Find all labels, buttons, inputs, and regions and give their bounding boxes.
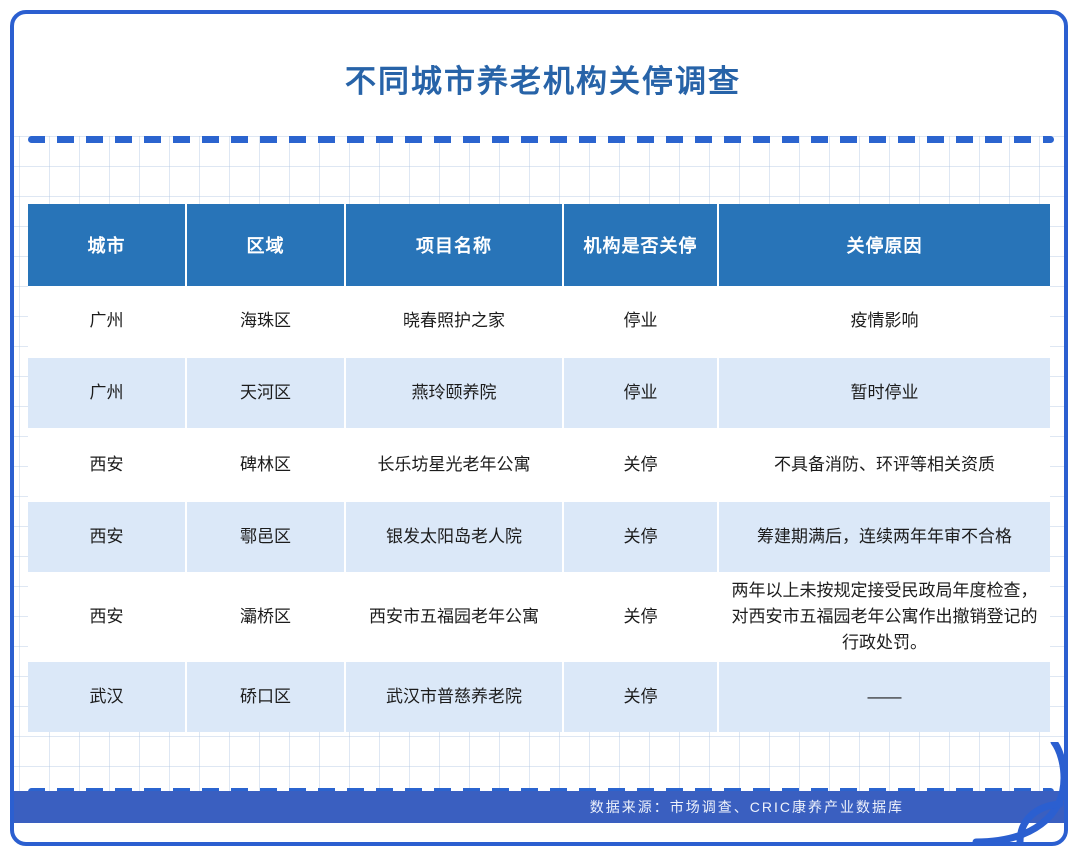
table-row: 广州 天河区 燕玲颐养院 停业 暂时停业 xyxy=(28,358,1050,428)
cell-project: 晓春照护之家 xyxy=(346,286,564,356)
column-header-district: 区域 xyxy=(187,204,346,286)
source-text: 数据来源：市场调查、CRIC康养产业数据库 xyxy=(590,797,1068,817)
cell-city: 西安 xyxy=(28,430,187,500)
cell-city: 西安 xyxy=(28,502,187,572)
cell-district: 海珠区 xyxy=(187,286,346,356)
table-row: 武汉 硚口区 武汉市普慈养老院 关停 —— xyxy=(28,662,1050,732)
cell-city: 广州 xyxy=(28,286,187,356)
cell-city: 武汉 xyxy=(28,662,187,732)
dashed-divider-top xyxy=(28,136,1054,143)
column-header-reason: 关停原因 xyxy=(719,204,1050,286)
cell-district: 鄠邑区 xyxy=(187,502,346,572)
column-header-city: 城市 xyxy=(28,204,187,286)
page-title: 不同城市养老机构关停调查 xyxy=(14,60,1068,104)
cell-city: 西安 xyxy=(28,574,187,660)
cell-reason: 两年以上未按规定接受民政局年度检查，对西安市五福园老年公寓作出撤销登记的行政处罚… xyxy=(719,574,1050,660)
table-row: 西安 灞桥区 西安市五福园老年公寓 关停 两年以上未按规定接受民政局年度检查，对… xyxy=(28,574,1050,660)
cell-status: 关停 xyxy=(564,662,719,732)
cell-district: 硚口区 xyxy=(187,662,346,732)
cell-reason: 疫情影响 xyxy=(719,286,1050,356)
cell-project: 西安市五福园老年公寓 xyxy=(346,574,564,660)
report-card: 不同城市养老机构关停调查 城市 区域 项目名称 机构是否关停 关停原因 广州 海… xyxy=(10,10,1068,846)
cell-district: 灞桥区 xyxy=(187,574,346,660)
table-row: 西安 鄠邑区 银发太阳岛老人院 关停 筹建期满后，连续两年年审不合格 xyxy=(28,502,1050,572)
cell-reason: —— xyxy=(719,662,1050,732)
cell-reason: 不具备消防、环评等相关资质 xyxy=(719,430,1050,500)
table-header-row: 城市 区域 项目名称 机构是否关停 关停原因 xyxy=(28,204,1050,286)
table-row: 西安 碑林区 长乐坊星光老年公寓 关停 不具备消防、环评等相关资质 xyxy=(28,430,1050,500)
cell-city: 广州 xyxy=(28,358,187,428)
table-header: 城市 区域 项目名称 机构是否关停 关停原因 xyxy=(28,204,1050,286)
cell-status: 停业 xyxy=(564,286,719,356)
closure-survey-table: 城市 区域 项目名称 机构是否关停 关停原因 广州 海珠区 晓春照护之家 停业 … xyxy=(28,204,1050,732)
cell-reason: 暂时停业 xyxy=(719,358,1050,428)
cell-status: 关停 xyxy=(564,430,719,500)
cell-district: 天河区 xyxy=(187,358,346,428)
cell-project: 武汉市普慈养老院 xyxy=(346,662,564,732)
table-row: 广州 海珠区 晓春照护之家 停业 疫情影响 xyxy=(28,286,1050,356)
cell-status: 停业 xyxy=(564,358,719,428)
cell-project: 燕玲颐养院 xyxy=(346,358,564,428)
data-table-container: 城市 区域 项目名称 机构是否关停 关停原因 广州 海珠区 晓春照护之家 停业 … xyxy=(28,204,1050,732)
cell-project: 银发太阳岛老人院 xyxy=(346,502,564,572)
source-footer-bar: 数据来源：市场调查、CRIC康养产业数据库 xyxy=(14,791,1068,823)
cell-reason: 筹建期满后，连续两年年审不合格 xyxy=(719,502,1050,572)
cell-district: 碑林区 xyxy=(187,430,346,500)
table-body: 广州 海珠区 晓春照护之家 停业 疫情影响 广州 天河区 燕玲颐养院 停业 暂时… xyxy=(28,286,1050,732)
cell-status: 关停 xyxy=(564,502,719,572)
column-header-status: 机构是否关停 xyxy=(564,204,719,286)
cell-status: 关停 xyxy=(564,574,719,660)
column-header-project: 项目名称 xyxy=(346,204,564,286)
cell-project: 长乐坊星光老年公寓 xyxy=(346,430,564,500)
